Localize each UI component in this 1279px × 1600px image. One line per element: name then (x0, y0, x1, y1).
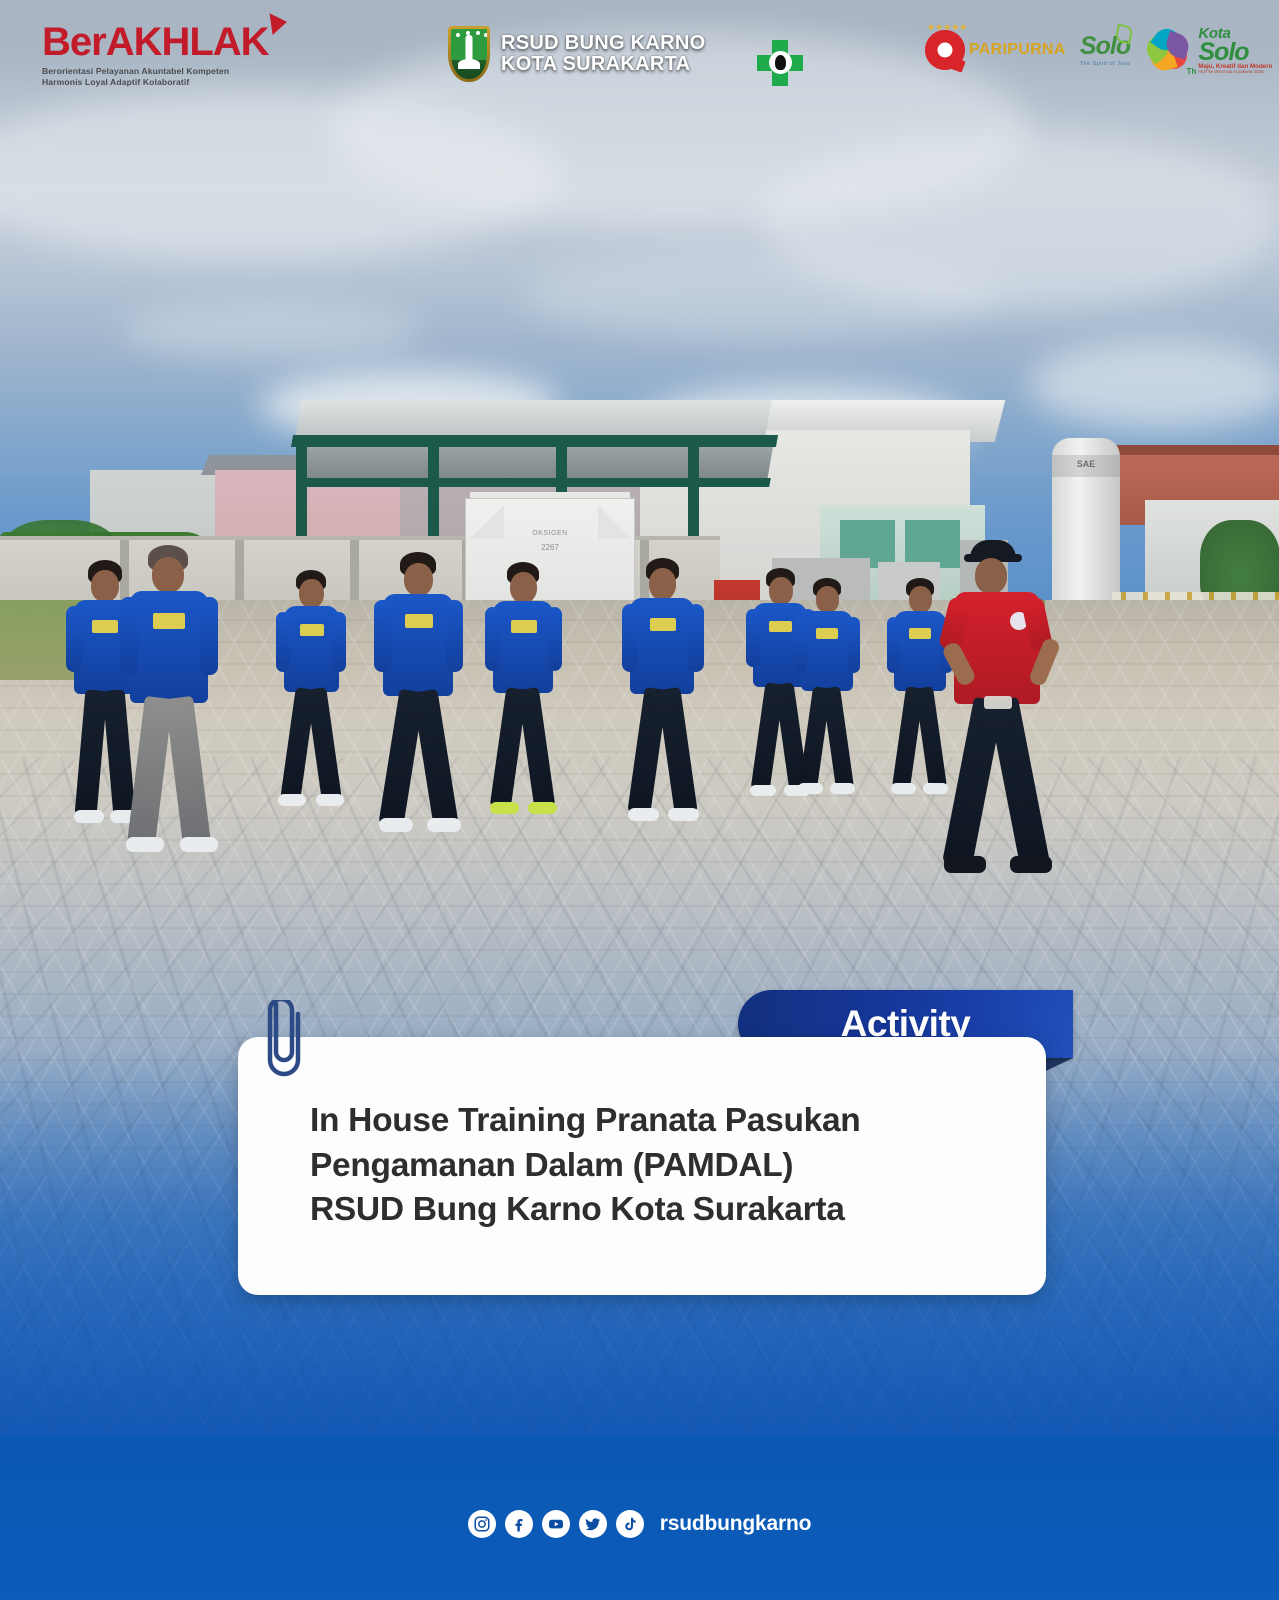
facebook-icon[interactable] (505, 1510, 533, 1538)
container-number: 2267 (495, 543, 605, 552)
green-medical-cross-icon (757, 40, 803, 86)
paripurna-label: PARIPURNA (969, 41, 1066, 59)
container-label: OKSIGEN (495, 530, 605, 537)
activity-title-line-1: In House Training Pranata Pasukan (310, 1099, 860, 1144)
solo-tagline: The Spirit of Java (1080, 61, 1131, 67)
accreditation-logos: ★★★★★ PARIPURNA Solo The Spirit of Java (925, 26, 1272, 74)
institution-name-line2: KOTA SURAKARTA (501, 54, 706, 75)
berakhlak-tagline-line1: Berorientasi Pelayanan Akuntabel Kompete… (42, 66, 269, 77)
solo-brand-logo: Solo The Spirit of Java (1080, 34, 1131, 67)
paperclip-icon (264, 1000, 304, 1078)
kota-solo-line2: Solo (1198, 41, 1272, 64)
surakarta-city-crest-icon (448, 26, 490, 82)
instagram-icon[interactable] (468, 1510, 496, 1538)
tiktok-icon[interactable] (616, 1510, 644, 1538)
twitter-icon[interactable] (579, 1510, 607, 1538)
paripurna-accreditation-logo: ★★★★★ PARIPURNA (925, 30, 1066, 70)
youtube-icon[interactable] (542, 1510, 570, 1538)
canopy-beam (291, 435, 778, 447)
berakhlak-tagline-line2: Harmonis Loyal Adaptif Kolaboratif (42, 77, 269, 88)
paripurna-q-seal-icon (925, 30, 965, 70)
anniversary-mark: Th (1187, 67, 1197, 76)
poster-header: BerAKHLAK Berorientasi Pelayanan Akuntab… (0, 0, 1279, 112)
silo-label: SAE (1055, 459, 1117, 469)
social-footer: rsudbungkarno (0, 1510, 1279, 1538)
institution-logo: RSUD BUNG KARNO KOTA SURAKARTA (448, 26, 706, 82)
berakhlak-logo: BerAKHLAK Berorientasi Pelayanan Akuntab… (42, 22, 269, 87)
cloud-shape (120, 300, 420, 360)
kota-solo-flower-icon: Th (1144, 26, 1192, 74)
kota-solo-logo: Th Kota Solo Maju, Kreatif dan Modern HU… (1144, 26, 1272, 74)
poster-root: OKSIGEN 2267 SAE (0, 0, 1279, 1600)
berakhlak-arrow-icon (269, 11, 288, 35)
cloud-shape (520, 250, 1000, 340)
canopy-underside (297, 447, 773, 481)
institution-name-line1: RSUD BUNG KARNO (501, 33, 706, 54)
cloud-shape (1030, 340, 1279, 430)
activity-title-card: In House Training Pranata Pasukan Pengam… (238, 1037, 1046, 1295)
activity-title-line-2: Pengamanan Dalam (PAMDAL) (310, 1144, 860, 1189)
social-handle: rsudbungkarno (660, 1512, 811, 1536)
window-green (905, 520, 960, 568)
canopy-beam (299, 478, 771, 487)
berakhlak-wordmark: BerAKHLAK (42, 22, 269, 62)
activity-title-line-3: RSUD Bung Karno Kota Surakarta (310, 1188, 860, 1233)
kota-solo-subtagline: HUT ke-280 Kota Surakarta 2025 (1198, 70, 1272, 74)
